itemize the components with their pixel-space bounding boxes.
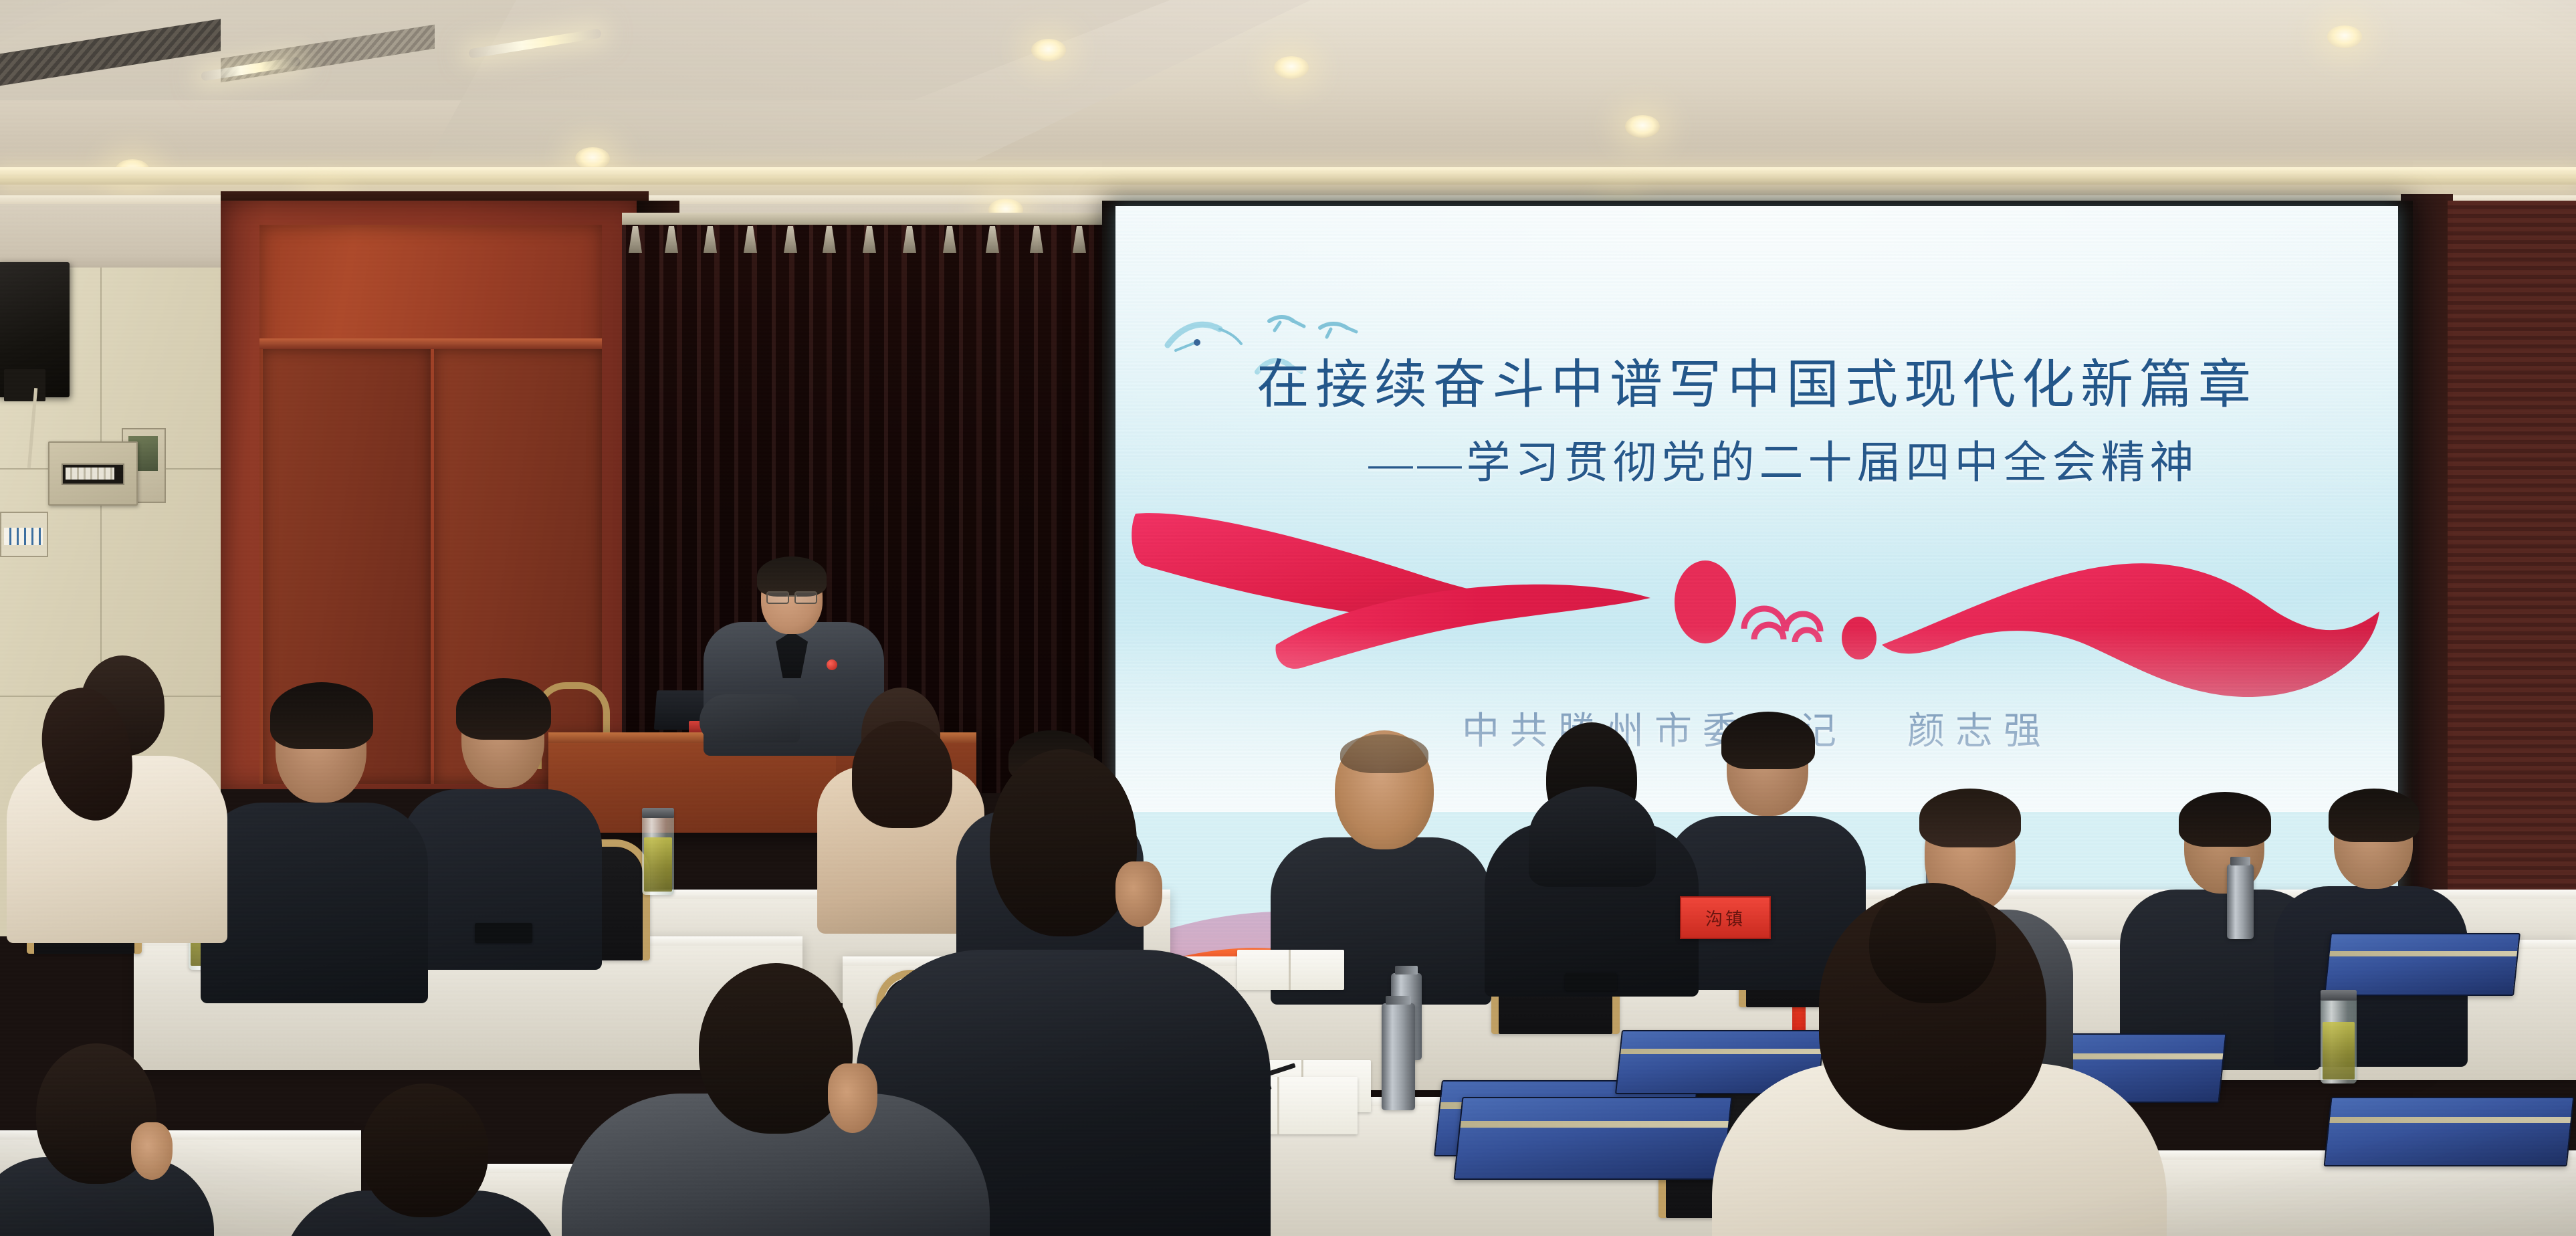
document-folder: [2324, 1097, 2575, 1166]
wall-speaker-icon: [0, 262, 70, 397]
downlight-icon: [2327, 25, 2362, 48]
downlight-icon: [1031, 39, 1066, 62]
document-folder: [2324, 933, 2520, 996]
attendee-hooded-black: [1485, 722, 1699, 990]
glasses-icon: [766, 591, 817, 602]
curtain-hook-icon: [823, 226, 836, 253]
curtain-hook-icon: [1073, 226, 1086, 253]
curtain-hook-icon: [863, 226, 876, 253]
breaker-slot: [62, 463, 124, 484]
curtain-hook-icon: [744, 226, 757, 253]
door-lintel: [259, 338, 602, 349]
curtain-hook-icon: [665, 226, 678, 253]
ceiling-recess-panel-secondary: [428, 0, 1311, 161]
curtain-hook-icon: [986, 226, 999, 253]
tea-jar: [642, 808, 674, 895]
attendee-white-sweater-foreground: [1712, 890, 2167, 1236]
ceiling: [0, 0, 2576, 221]
attendee-dark-right-edge: [2274, 793, 2468, 1060]
curtain-hook-icon: [704, 226, 717, 253]
attendee-dark-suit-front-left: [201, 689, 428, 997]
smartphone-icon: [475, 923, 532, 943]
curtain-hook-row: [629, 222, 1123, 262]
attendee-foreground-bottom-center: [281, 1084, 562, 1236]
distribution-box: [48, 441, 138, 506]
curtain-hook-icon: [784, 226, 797, 253]
curtain-hook-icon: [943, 226, 956, 253]
downlight-icon: [1274, 56, 1309, 79]
curtain-hook-icon: [1030, 226, 1043, 253]
attendee-cream-puffer-jacket: [7, 655, 234, 936]
smartphone-icon: [1565, 973, 1617, 991]
attendee-dark-suit-second-left: [401, 684, 602, 964]
presenter-hair: [757, 556, 827, 597]
attendee-grey-vest-foreground: [562, 963, 990, 1236]
downlight-icon: [575, 147, 610, 170]
presenter-arm: [700, 694, 800, 742]
curtain-hook-icon: [629, 226, 642, 253]
thermos-flask: [1382, 1003, 1415, 1110]
conference-hall-photo: 在接续奋斗中谱写中国式现代化新篇章 ——学习贯彻党的二十届四中全会精神: [0, 0, 2576, 1236]
thermos-flask: [2227, 864, 2254, 939]
tea-jar: [2321, 990, 2357, 1084]
downlight-icon: [1625, 115, 1660, 138]
cove-light-strip: [0, 167, 2576, 185]
screen-title: 在接续奋斗中谱写中国式现代化新篇章: [1115, 356, 2398, 415]
document-folder: [1453, 1097, 1732, 1180]
breaker-panel: [0, 512, 48, 557]
curtain-hook-icon: [903, 226, 916, 253]
attendee-foreground-bottom-left: [0, 1043, 214, 1236]
party-badge-icon: [827, 659, 837, 670]
